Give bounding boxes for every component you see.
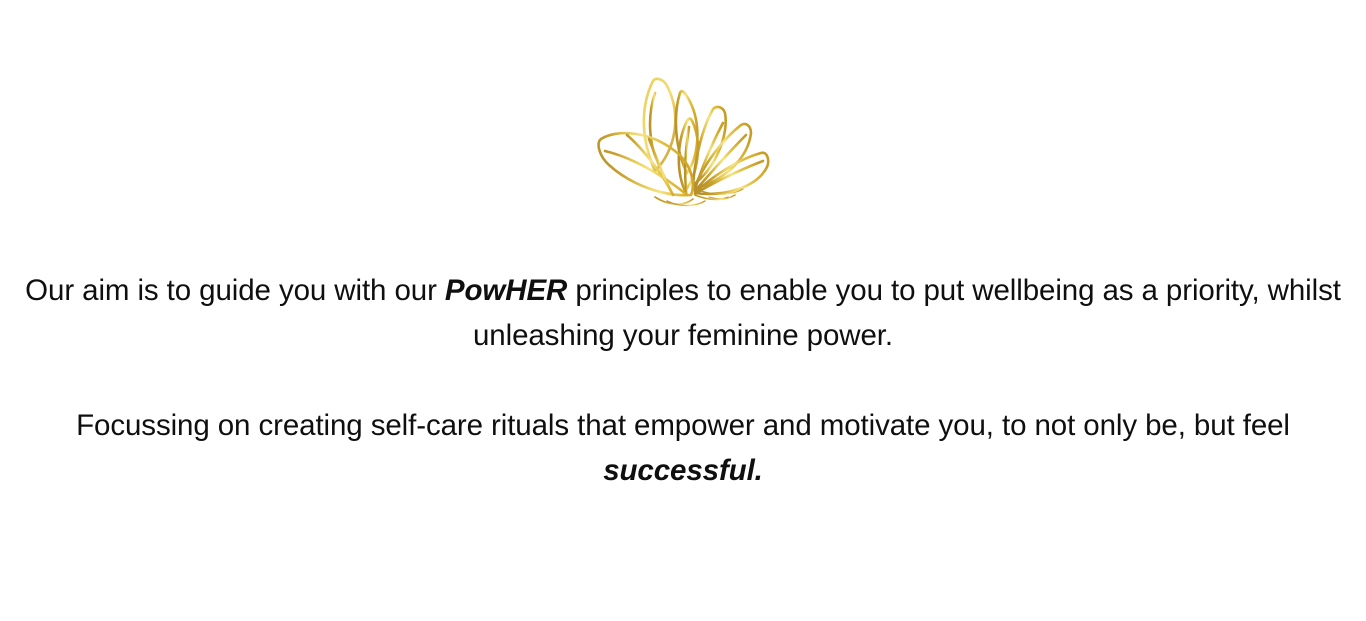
paragraph-1-emphasis: PowHER bbox=[445, 274, 567, 307]
statement-paragraph-1: Our aim is to guide you with our PowHER … bbox=[23, 268, 1343, 358]
logo-container bbox=[0, 62, 1366, 214]
paragraph-1-after: principles to enable you to put wellbein… bbox=[473, 274, 1341, 352]
paragraph-1-before: Our aim is to guide you with our bbox=[25, 274, 445, 307]
statement-paragraph-2: Focussing on creating self-care rituals … bbox=[23, 403, 1343, 493]
mission-statement-page: Our aim is to guide you with our PowHER … bbox=[0, 0, 1366, 621]
paragraph-2-before: Focussing on creating self-care rituals … bbox=[76, 409, 1290, 442]
paragraph-2-emphasis: successful. bbox=[603, 454, 763, 487]
butterfly-lotus-logo-icon bbox=[583, 65, 783, 211]
mission-statement-text: Our aim is to guide you with our PowHER … bbox=[23, 268, 1343, 493]
